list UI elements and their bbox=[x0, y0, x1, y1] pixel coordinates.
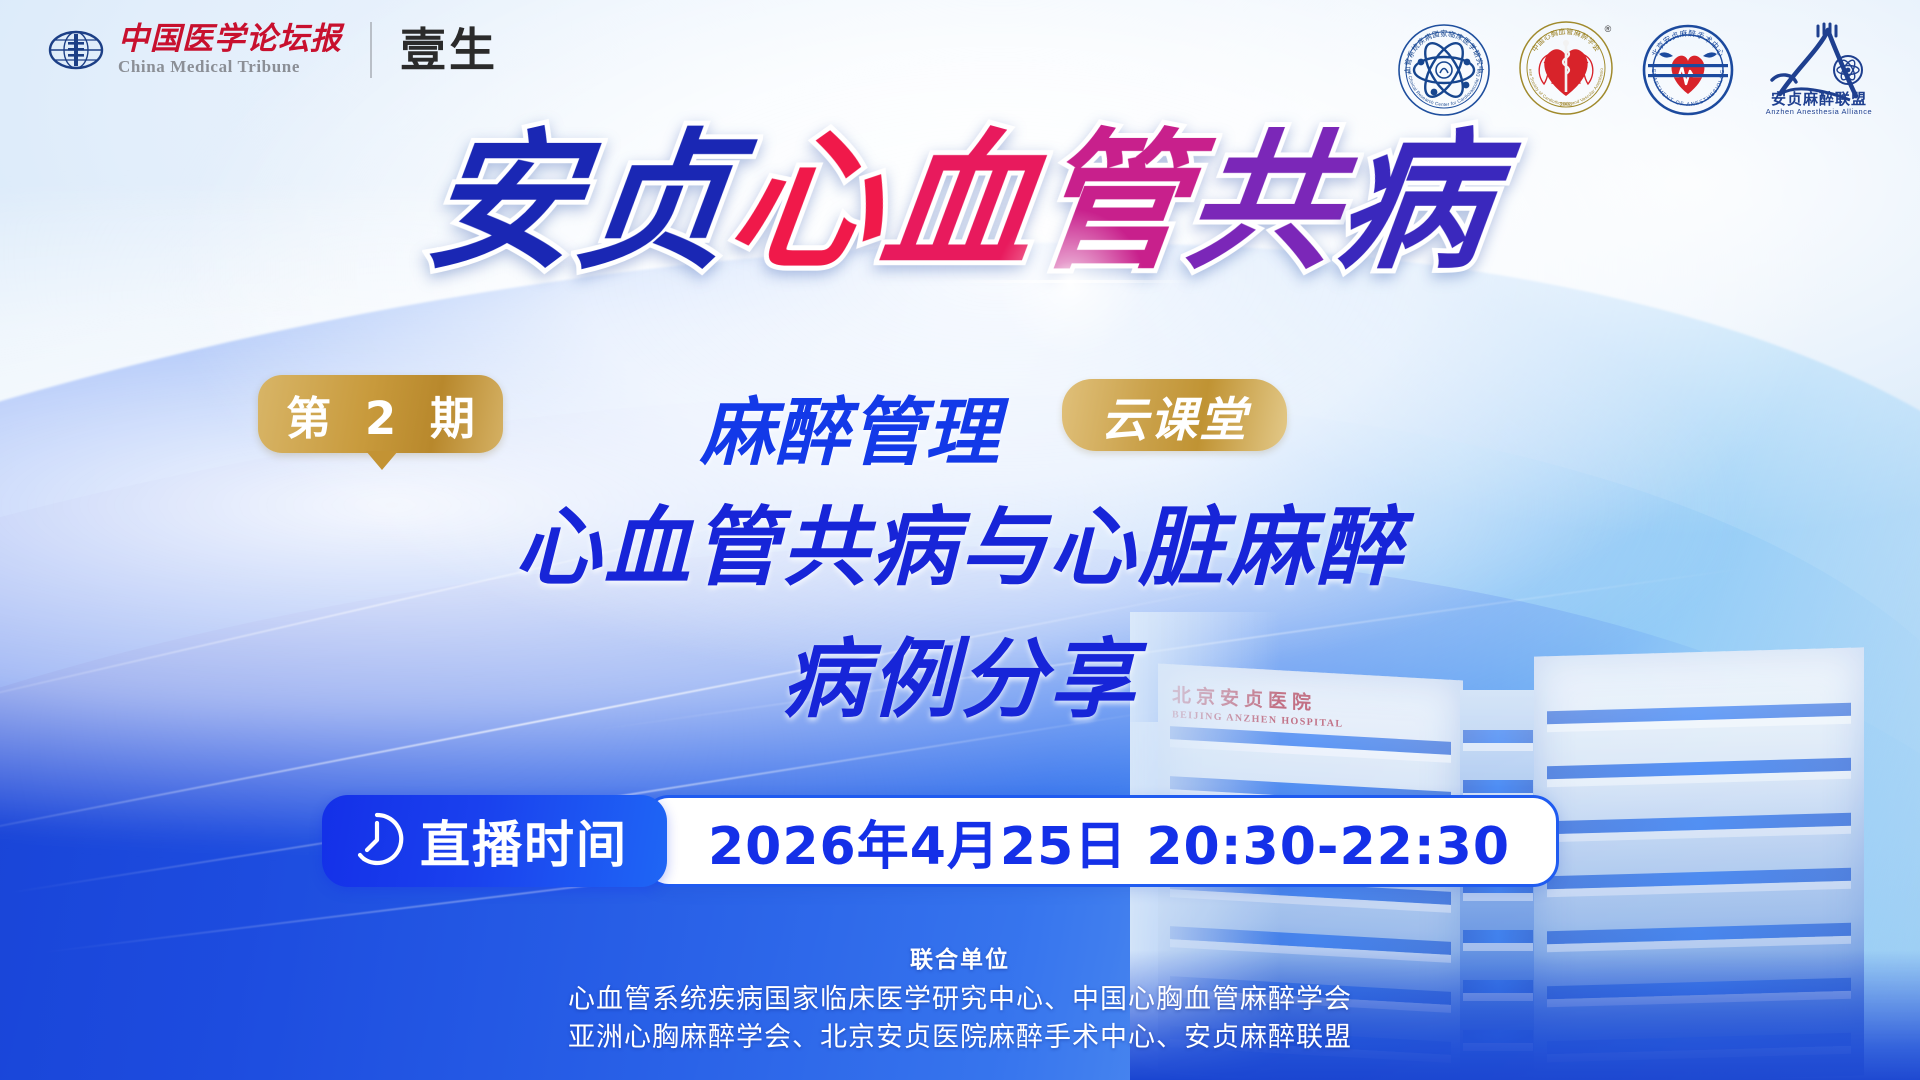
svg-text:®: ® bbox=[1605, 24, 1612, 34]
globe-logo-icon bbox=[48, 29, 104, 71]
sub-brand-char-2: 生 bbox=[449, 27, 498, 73]
footer-line-1: 心血管系统疾病国家临床医学研究中心、中国心胸血管麻醉学会 bbox=[0, 981, 1920, 1019]
brand-name-cn: 中国医学论坛报 bbox=[118, 23, 342, 56]
brand-divider bbox=[370, 22, 372, 78]
footer-title: 联合单位 bbox=[0, 940, 1920, 974]
cloud-classroom-label: 云课堂 bbox=[1101, 381, 1248, 450]
issue-badge-label: 第 2 期 bbox=[277, 382, 484, 447]
svg-text:安贞麻醉联盟: 安贞麻醉联盟 bbox=[1771, 90, 1867, 108]
footer-organizers: 联合单位 心血管系统疾病国家临床医学研究中心、中国心胸血管麻醉学会 亚洲心胸麻醉… bbox=[0, 940, 1920, 1058]
title-char-6: 共 bbox=[1179, 128, 1349, 278]
title-char-7: 病 bbox=[1331, 128, 1501, 278]
page-title-calligraphy: 安贞心血管共病 bbox=[0, 128, 1920, 278]
subtitle-row: 第 2 期 麻醉管理 云课堂 bbox=[0, 373, 1920, 477]
anzhen-anesthesia-alliance-logo: 安贞麻醉联盟 Anzhen Anesthesia Alliance bbox=[1760, 22, 1878, 118]
cloud-classroom-pill: 云课堂 bbox=[1062, 379, 1287, 451]
title-char-4: 血 bbox=[875, 128, 1045, 278]
issue-badge: 第 2 期 bbox=[258, 375, 503, 453]
live-time-label-pill: 直播时间 bbox=[322, 795, 667, 887]
organizer-logos: 心血管系统疾病国家临床医学研究中心 National Clinical Rese… bbox=[1396, 18, 1878, 118]
poster-root: 北京安贞医院 BEIJING ANZHEN HOSPITAL bbox=[0, 0, 1920, 1080]
anzhen-department-of-anesthesiology-logo: 北京安贞麻醉手术中心 DEPARTMENT OF ANESTHESIOLOGY bbox=[1640, 22, 1736, 118]
svg-text:2008: 2008 bbox=[1560, 102, 1572, 108]
national-clinical-research-center-logo: 心血管系统疾病国家临床医学研究中心 National Clinical Rese… bbox=[1396, 22, 1492, 118]
clock-icon bbox=[348, 810, 406, 873]
headline-line-1: 心血管共病与心脏麻醉 bbox=[0, 505, 1920, 591]
brand-text: 中国医学论坛报 China Medical Tribune bbox=[118, 23, 342, 77]
title-char-1: 安 bbox=[419, 128, 589, 278]
chinese-society-cardiothoracic-vascular-anesthesiology-logo: 中国心胸血管麻醉学会 Chinese Society of Cardiothor… bbox=[1516, 18, 1616, 118]
title-char-2: 贞 bbox=[571, 128, 741, 278]
live-time-label: 直播时间 bbox=[420, 805, 628, 877]
live-time-value: 2026年4月25日 20:30-22:30 bbox=[708, 804, 1510, 879]
headline-line-2: 病例分享 bbox=[0, 637, 1920, 723]
sub-brand-logo[interactable]: 壹 生 bbox=[400, 27, 498, 73]
topic-label: 麻醉管理 bbox=[700, 373, 1000, 480]
brand-name-en: China Medical Tribune bbox=[118, 57, 342, 77]
title-char-5: 管 bbox=[1027, 128, 1197, 278]
brand-logo[interactable]: 中国医学论坛报 China Medical Tribune 壹 生 bbox=[48, 22, 498, 78]
sub-brand-char-1: 壹 bbox=[400, 27, 449, 73]
svg-text:Anzhen Anesthesia Alliance: Anzhen Anesthesia Alliance bbox=[1766, 107, 1872, 116]
title-char-3: 心 bbox=[723, 128, 893, 278]
footer-line-2: 亚洲心胸麻醉学会、北京安贞医院麻醉手术中心、安贞麻醉联盟 bbox=[0, 1019, 1920, 1057]
live-time-bar: 直播时间 2026年4月25日 20:30-22:30 bbox=[322, 795, 1559, 887]
live-time-value-box: 2026年4月25日 20:30-22:30 bbox=[643, 795, 1559, 887]
